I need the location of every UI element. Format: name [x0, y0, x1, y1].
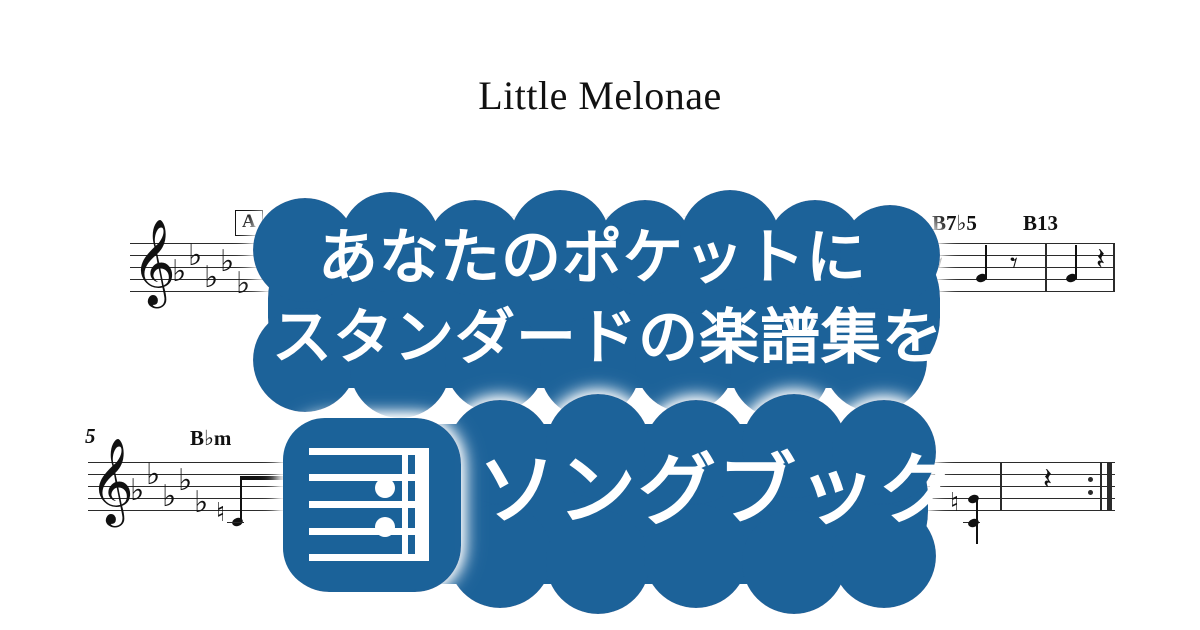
- brand-name: ソングブック: [478, 452, 958, 530]
- promo-banner: Little Melonae 𝄞 ♭ ♭ ♭ ♭ ♭ C: [0, 0, 1200, 630]
- brand-logo[interactable]: [283, 418, 455, 590]
- promo-headline-line-1: あなたのポケットに: [318, 228, 867, 288]
- promo-content: あなたのポケットに スタンダードの楽譜集を ソングブック: [0, 0, 1200, 630]
- repeat-barline-staff-icon: [309, 448, 429, 561]
- promo-headline-line-2: スタンダードの楽譜集を: [272, 308, 943, 368]
